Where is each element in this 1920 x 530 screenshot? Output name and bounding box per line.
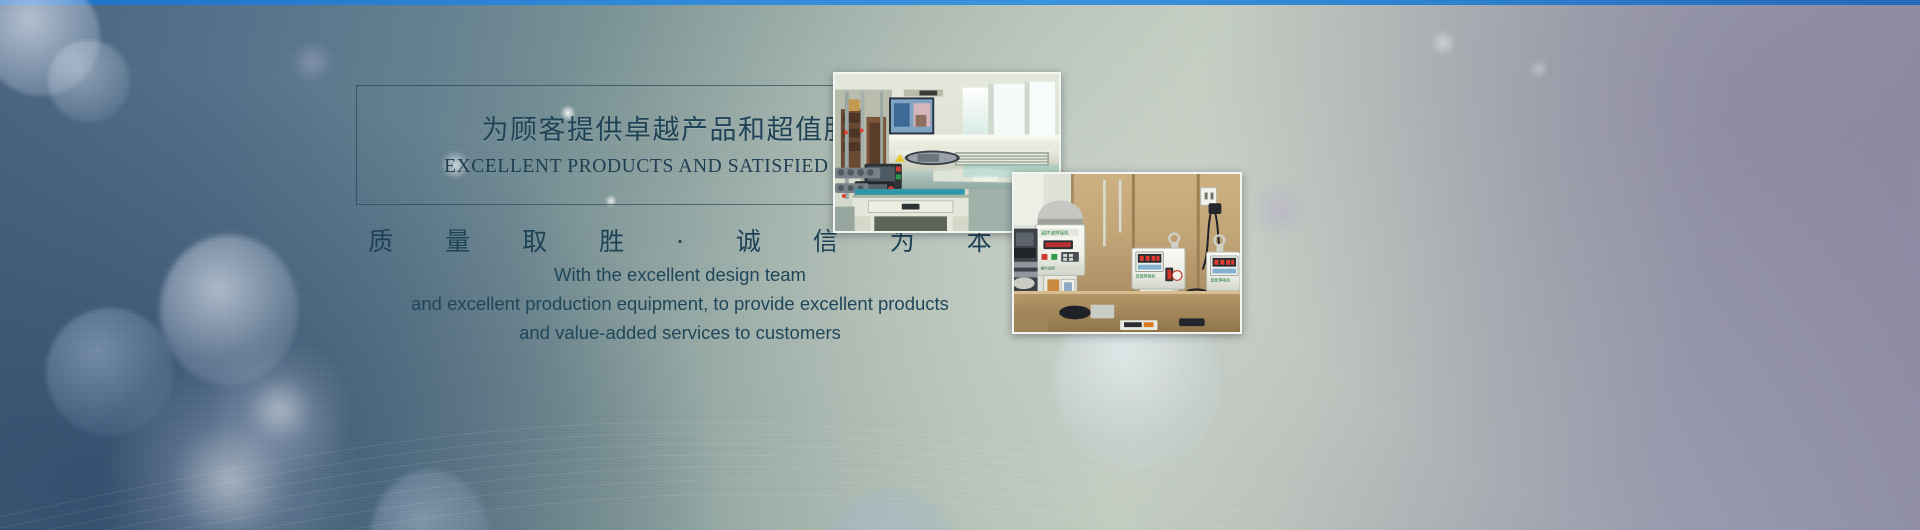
description-line-1: With the excellent design team [240,260,1120,289]
quality-banner: 为顾客提供卓越产品和超值服务 EXCELLENT PRODUCTS AND SA… [0,0,1920,530]
svg-text:超声波焊接机: 超声波焊接机 [1042,229,1070,236]
description-line-3: and value-added services to customers [240,318,1120,347]
description-paragraph: With the excellent design team and excel… [240,260,1120,347]
photo-testbench-equipment-image: 超声波焊接机 操作说明 [1014,174,1240,332]
svg-text:智能焊接机: 智能焊接机 [1211,277,1231,282]
photo-testbench-equipment[interactable]: 超声波焊接机 操作说明 [1012,172,1242,334]
description-line-2: and excellent production equipment, to p… [240,289,1120,318]
svg-text:智能焊接机: 智能焊接机 [1136,273,1156,278]
svg-text:操作说明: 操作说明 [1041,266,1056,271]
